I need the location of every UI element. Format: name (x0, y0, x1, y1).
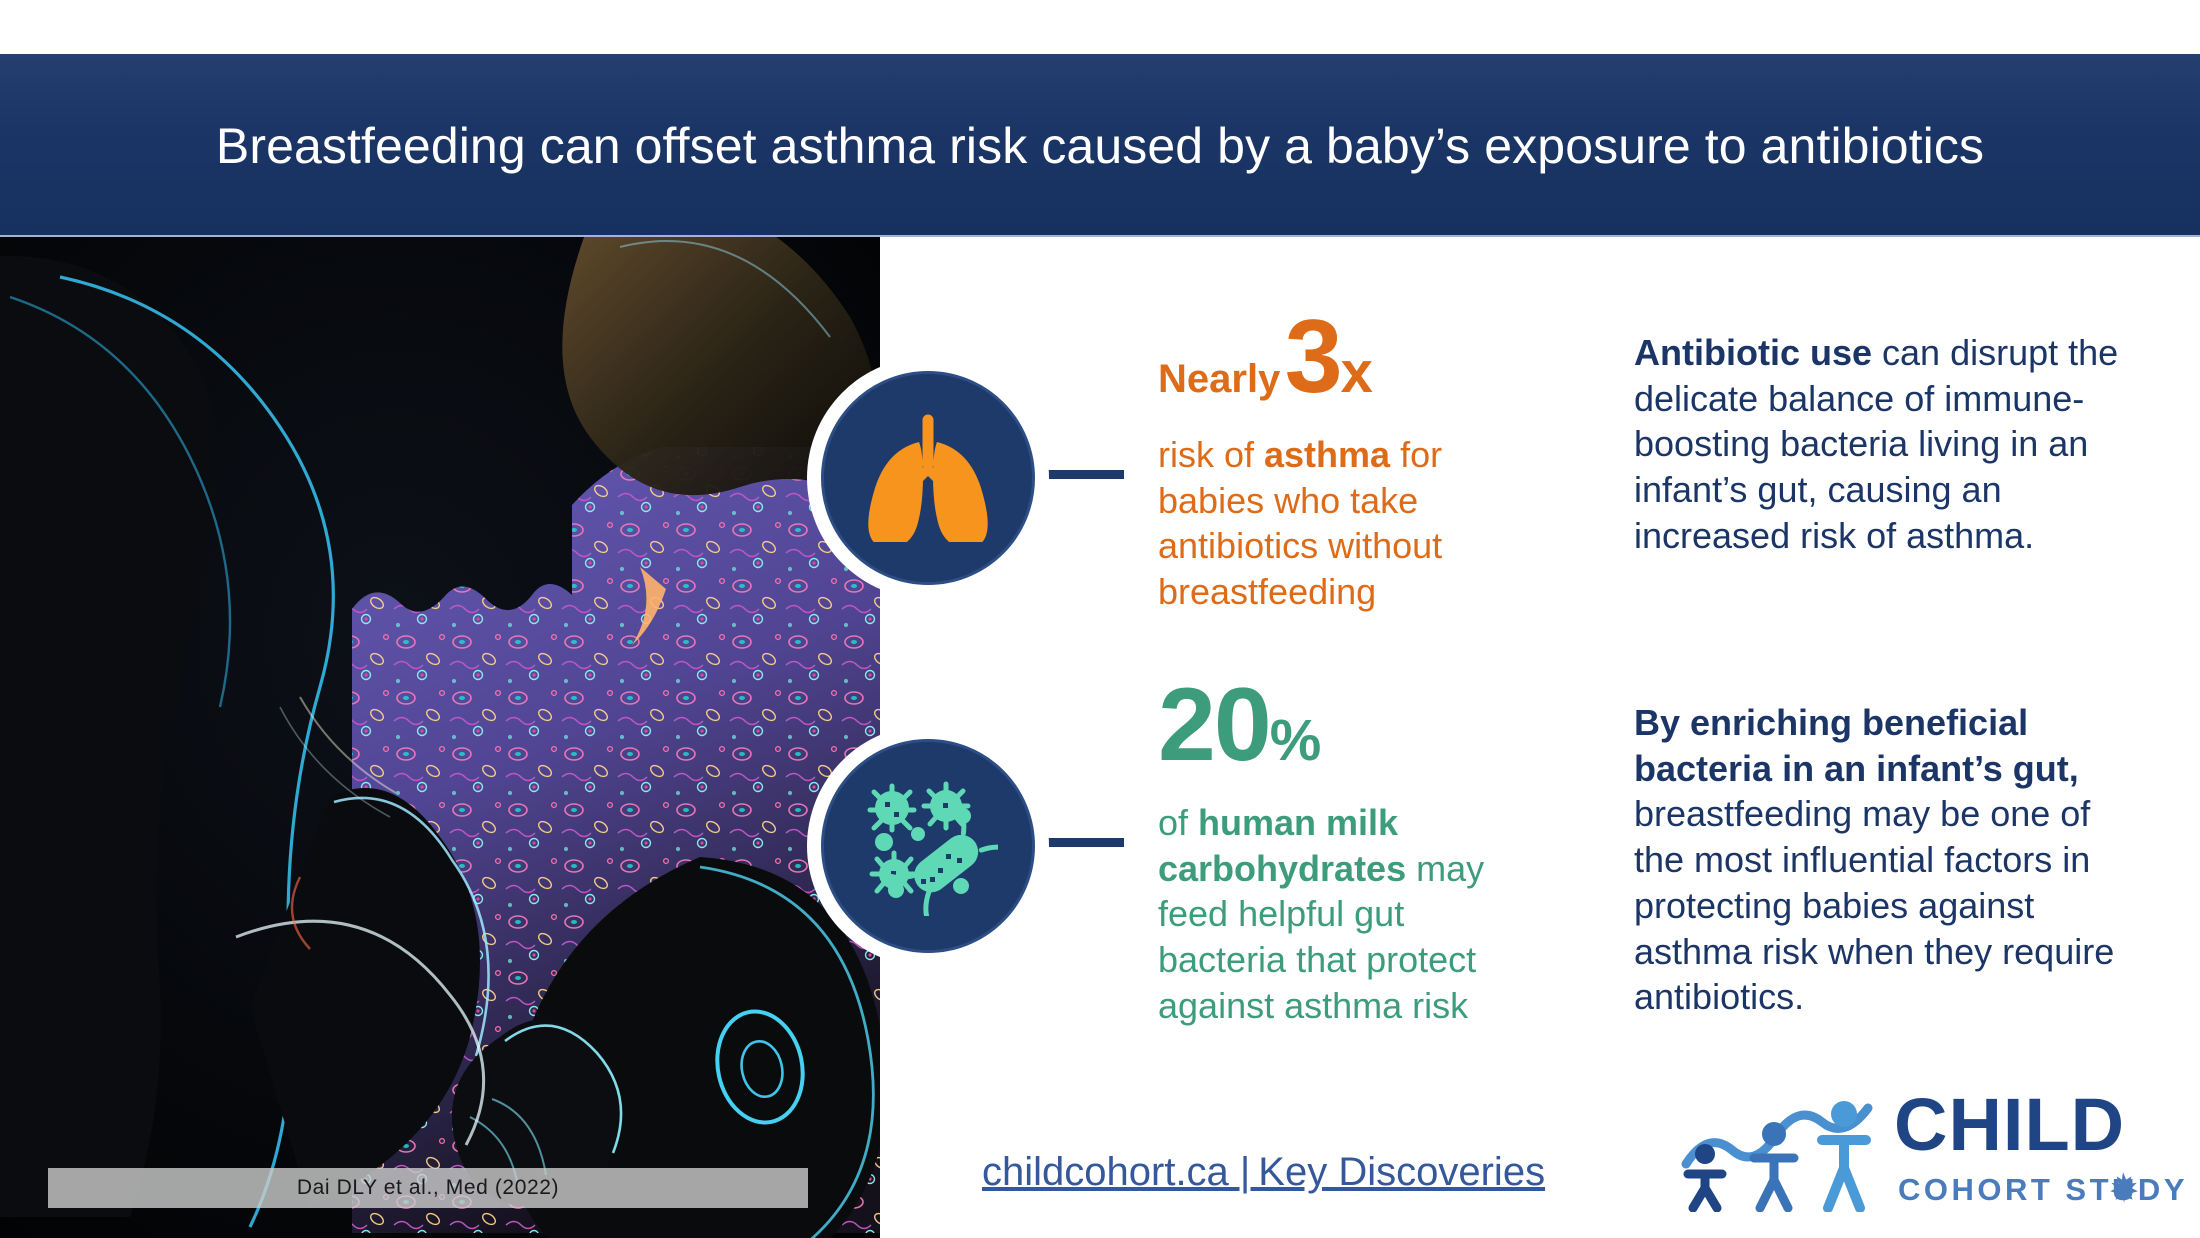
page-title: Breastfeeding can offset asthma risk cau… (216, 117, 1984, 175)
paragraph-1-lead: Antibiotic use (1634, 332, 1872, 373)
logo-subtitle: COHORT STUDY (1898, 1174, 2188, 1205)
paragraph-2-lead: By enriching beneficial bacteria in an i… (1634, 702, 2079, 789)
photo-caption-text: Dai DLY et al., Med (2022) (297, 1176, 559, 1200)
connector-line-2 (1020, 838, 1124, 847)
paragraph-2-body: breastfeeding may be one of the most inf… (1634, 793, 2114, 1017)
title-banner: Breastfeeding can offset asthma risk cau… (0, 54, 2200, 237)
stat-headline-1: Nearly 3x (1158, 305, 1373, 409)
stat-1-text-b: asthma (1264, 434, 1390, 475)
stat-1-text-a: risk of (1158, 434, 1264, 475)
bacteria-icon-circle (821, 739, 1035, 953)
stat-description-1: risk of asthma for babies who take antib… (1158, 432, 1518, 615)
mother-breastfeeding-baby-microbiome-illustration (0, 237, 880, 1238)
child-cohort-study-logo: CHILD COHORT STUDY (1676, 1092, 2146, 1224)
stat-suffix-2: % (1270, 708, 1322, 773)
stat-2-text-a: of (1158, 802, 1198, 843)
stat-description-2: of human milk carbohydrates may feed hel… (1158, 800, 1518, 1029)
maple-leaf-icon (2106, 1170, 2140, 1204)
photo-caption-bar: Dai DLY et al., Med (2022) (48, 1168, 808, 1208)
logo-wordmark: CHILD (1894, 1088, 2125, 1162)
stat-suffix-1: x (1341, 340, 1373, 405)
paragraph-antibiotic-use: Antibiotic use can disrupt the delicate … (1634, 330, 2134, 559)
stat-prefix-1: Nearly (1158, 357, 1280, 401)
lungs-icon-circle (821, 371, 1035, 585)
connector-line-1 (1020, 470, 1124, 479)
stat-value-1: 3 (1285, 299, 1341, 415)
hero-photo: Dai DLY et al., Med (2022) (0, 237, 880, 1238)
stat-headline-2: 20% (1158, 673, 1321, 777)
child-figures-icon (1676, 1092, 1886, 1212)
childcohort-link[interactable]: childcohort.ca | Key Discoveries (982, 1150, 1545, 1195)
bacteria-icon (858, 776, 998, 916)
stat-value-2: 20 (1158, 667, 1270, 783)
paragraph-enriching-bacteria: By enriching beneficial bacteria in an i… (1634, 700, 2134, 1020)
lungs-icon (863, 414, 993, 542)
